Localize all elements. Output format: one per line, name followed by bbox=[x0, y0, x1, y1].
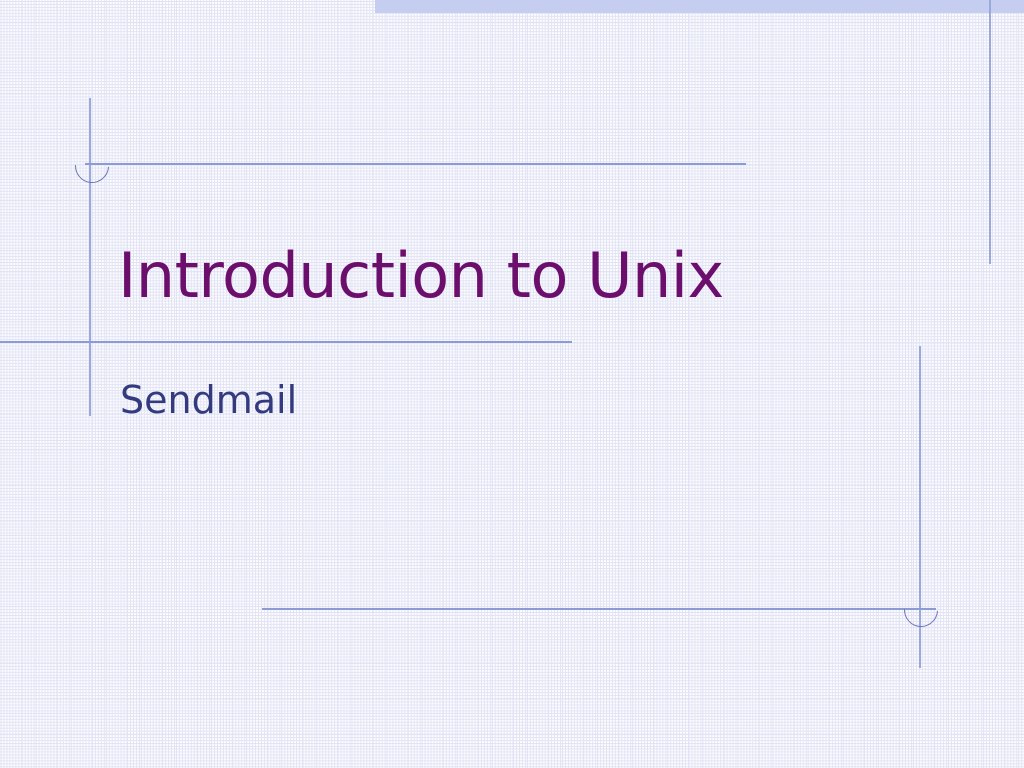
decorative-rule-left-vertical bbox=[89, 98, 91, 416]
title-slide: Introduction to Unix Sendmail bbox=[0, 0, 1024, 768]
decorative-rule-bottom-horizontal bbox=[262, 608, 936, 610]
page-title: Introduction to Unix bbox=[118, 243, 724, 308]
decorative-rule-top-horizontal bbox=[85, 163, 746, 165]
decorative-rule-right-vertical bbox=[989, 0, 991, 264]
decorative-rule-title-underline bbox=[0, 341, 572, 343]
page-subtitle: Sendmail bbox=[120, 380, 297, 422]
top-accent-band bbox=[375, 0, 1024, 13]
